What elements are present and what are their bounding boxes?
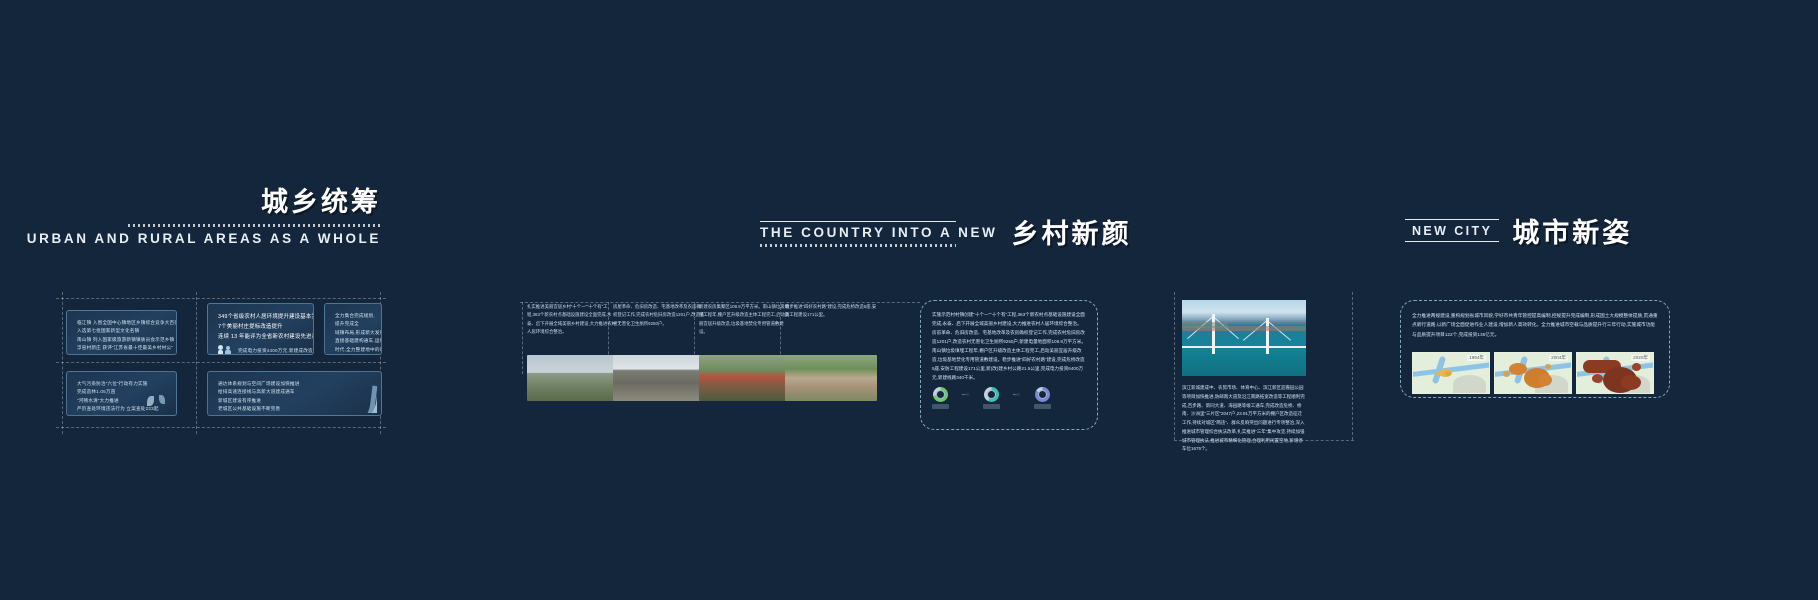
donut-chart-green bbox=[933, 387, 948, 402]
card-line: 直接基础建构通车,运用广泛新设 bbox=[335, 337, 371, 345]
column-caption: 新建农房集聚区108.9万平方米。南山镇垃圾填埋工程年,棚户区升级改造主体工程完… bbox=[699, 303, 791, 349]
divider-dots bbox=[760, 244, 956, 247]
section-en-wrap: THE COUNTRY INTO A NEW bbox=[760, 221, 997, 251]
card-line: 提升三年行动,实施提升完成专 bbox=[335, 354, 371, 355]
urban-growth-map-2020[interactable]: 2020年 bbox=[1576, 352, 1654, 394]
card-line: 严厉查处环境违法行为 立案查处223起 bbox=[77, 405, 166, 413]
card-line: 时代,全力整建地中的城乡道路 bbox=[335, 346, 371, 354]
section-heading-city: NEW CITY 城市新姿 bbox=[1405, 211, 1632, 250]
urban-growth-map-2004[interactable]: 2004年 bbox=[1494, 352, 1572, 394]
card-line: 大气污染防治“六位”行动有力实施 bbox=[77, 380, 166, 388]
section-en-box: NEW CITY bbox=[1405, 219, 1499, 242]
info-card-planning[interactable]: 全力集合完成规划, 提升完成全 域镇布局,形成新大发展整布局, 直接基础建构通车… bbox=[324, 303, 382, 355]
bridge-over-river-photo bbox=[1182, 300, 1306, 376]
card-stat-line: 连续 13 年能评为全省新农村建设先进县市 bbox=[218, 332, 303, 342]
section-title-en: NEW CITY bbox=[1412, 224, 1492, 238]
map-year-label: 1994年 bbox=[1467, 355, 1486, 361]
urban-growth-map-1994[interactable]: 1994年 bbox=[1412, 352, 1490, 394]
grid-line-v-city-left bbox=[1174, 292, 1175, 440]
card-line: 淡序区境基金分6届 bbox=[77, 414, 166, 416]
info-card-environment[interactable]: 大气污染防治“六位”行动有力实施 完成造林1.05万亩 “河畅水清”大力推进 严… bbox=[66, 371, 177, 416]
info-card-towns[interactable]: 临江镇 入围全国中心镇地区乡镇综合竞争大百强, 入选第七批国家新型文化名镇 南山… bbox=[66, 310, 177, 355]
card-line: 全力集合完成规划, bbox=[335, 312, 371, 320]
info-card-infrastructure[interactable]: 通达体系规划与空间广场建设加快推进 给排高速连接线与高新大道建成通车 新城区建设… bbox=[207, 371, 382, 416]
column-caption: 稳步推进“四好农村路”建设,完成危桥改造5座,安防工程建设171公里。 bbox=[785, 303, 877, 349]
caption-text: 滨江新城建成中、农贸市场、体育中心、滨江新区迎嘉园公园等项目加快推进,防邮南大道… bbox=[1182, 384, 1306, 454]
donut-chart-purple bbox=[1035, 387, 1050, 402]
card-line: 智慧城市建设加快 bbox=[218, 414, 371, 416]
poster-canvas: 城乡统筹 URBAN AND RURAL AREAS AS A WHOLE 临江… bbox=[0, 0, 1818, 600]
card-line: 南山镇 列入国家级旅游新镇镇质员会示范乡镇 bbox=[77, 336, 166, 344]
card-line: 完成电力投资4400万元,新建成改造线路546公里 bbox=[238, 347, 314, 355]
grid-line-h-bottom bbox=[56, 427, 386, 428]
card-line: 临江镇 入围全国中心镇地区乡镇综合竞争大百强, bbox=[77, 319, 166, 327]
country-column-2[interactable]: 新建农房集聚区108.9万平方米。南山镇垃圾填埋工程年,棚户区升级改造主体工程完… bbox=[699, 303, 791, 401]
section-title-en: URBAN AND RURAL AREAS AS A WHOLE bbox=[27, 231, 381, 246]
chevron-right-icon bbox=[962, 392, 970, 398]
card-line: 入选第七批国家新型文化名镇 bbox=[77, 327, 166, 335]
city-photo-caption: 滨江新城建成中、农贸市场、体育中心、滨江新区迎嘉园公园等项目加快推进,防邮南大道… bbox=[1182, 384, 1306, 454]
bubble-text: 全力推进两规建设,重构规划省城市风貌,学好市共青年管控提高编制,控规提升完成编制… bbox=[1412, 311, 1658, 345]
volunteers-photo bbox=[699, 355, 791, 401]
card-stat-line: 7个美丽村庄提标改造提升 bbox=[218, 322, 303, 332]
grid-line-v-mid bbox=[196, 292, 197, 434]
country-column-3[interactable]: 稳步推进“四好农村路”建设,完成危桥改造5座,安防工程建设171公里。 bbox=[785, 303, 877, 401]
section-heading-urban-rural: 城乡统筹 URBAN AND RURAL AREAS AS A WHOLE bbox=[27, 180, 381, 246]
grid-line-v-city-right bbox=[1352, 292, 1353, 440]
section-title-cn: 乡村新颜 bbox=[1011, 212, 1131, 251]
info-card-statistics[interactable]: 349个省级农村人居环境提升建设基本完成 7个美丽村庄提标改造提升 连续 13 … bbox=[207, 303, 314, 355]
urban-growth-map-group: 1994年 2004年 2020年 bbox=[1412, 352, 1654, 394]
section-title-cn: 城乡统筹 bbox=[27, 180, 381, 219]
divider-dots bbox=[128, 224, 381, 227]
grid-line-v-left bbox=[62, 292, 63, 434]
grid-line-v-c0 bbox=[522, 302, 523, 374]
village-wall-photo bbox=[527, 355, 619, 401]
side-banner: URBAN AND RURAL CONSTRUCTION 城 乡 建 设 bbox=[1694, 0, 1818, 600]
grid-line-h-mid bbox=[56, 362, 386, 363]
divider-solid bbox=[760, 221, 956, 222]
card-line: 域镇布局,形成新大发展整布局, bbox=[335, 329, 371, 337]
donut-chart-teal bbox=[984, 387, 999, 402]
map-year-label: 2020年 bbox=[1631, 355, 1650, 361]
map-year-label: 2004年 bbox=[1549, 355, 1568, 361]
country-summary-bubble[interactable]: 实施示范村村镇创建“十个一”“十个有”工程,363个新农村点基础设施建设全面完成… bbox=[920, 300, 1098, 430]
country-column-0[interactable]: 扎实推进美丽宜居乡村“十个一”“十个有”工程,363个新农村点基础设施建设全面完… bbox=[527, 303, 619, 401]
village-road-photo bbox=[785, 355, 877, 401]
card-line: 浮窑村新庄 获评“江苏省最十佳最美乡村村公” bbox=[77, 344, 166, 352]
card-line: 提升完成全 bbox=[335, 320, 371, 328]
section-heading-country: THE COUNTRY INTO A NEW 乡村新颜 bbox=[760, 212, 1131, 251]
leaf-icon bbox=[159, 395, 165, 404]
village-house-photo bbox=[613, 355, 705, 401]
section-title-en: THE COUNTRY INTO A NEW bbox=[760, 225, 997, 240]
bubble-text: 实施示范村村镇创建“十个一”“十个有”工程,363个新农村点基础设施建设全面完成… bbox=[932, 311, 1086, 397]
column-caption: 房屋革命、危旧房改造、宅基地改革及农房确权登记工作,完成农村危旧房改造1201户… bbox=[613, 303, 705, 349]
chevron-right-icon bbox=[1013, 392, 1021, 398]
people-icon bbox=[218, 345, 234, 355]
road-icon bbox=[321, 379, 377, 413]
column-caption: 扎实推进美丽宜居乡村“十个一”“十个有”工程,363个新农村点基础设施建设全面完… bbox=[527, 303, 619, 349]
country-column-1[interactable]: 房屋革命、危旧房改造、宅基地改革及农房确权登记工作,完成农村危旧房改造1201户… bbox=[613, 303, 705, 401]
donut-chart-group bbox=[933, 387, 1050, 402]
card-stat-line: 349个省级农村人居环境提升建设基本完成 bbox=[218, 312, 303, 322]
grid-line-h-top bbox=[56, 298, 386, 299]
section-title-cn: 城市新姿 bbox=[1512, 211, 1632, 250]
